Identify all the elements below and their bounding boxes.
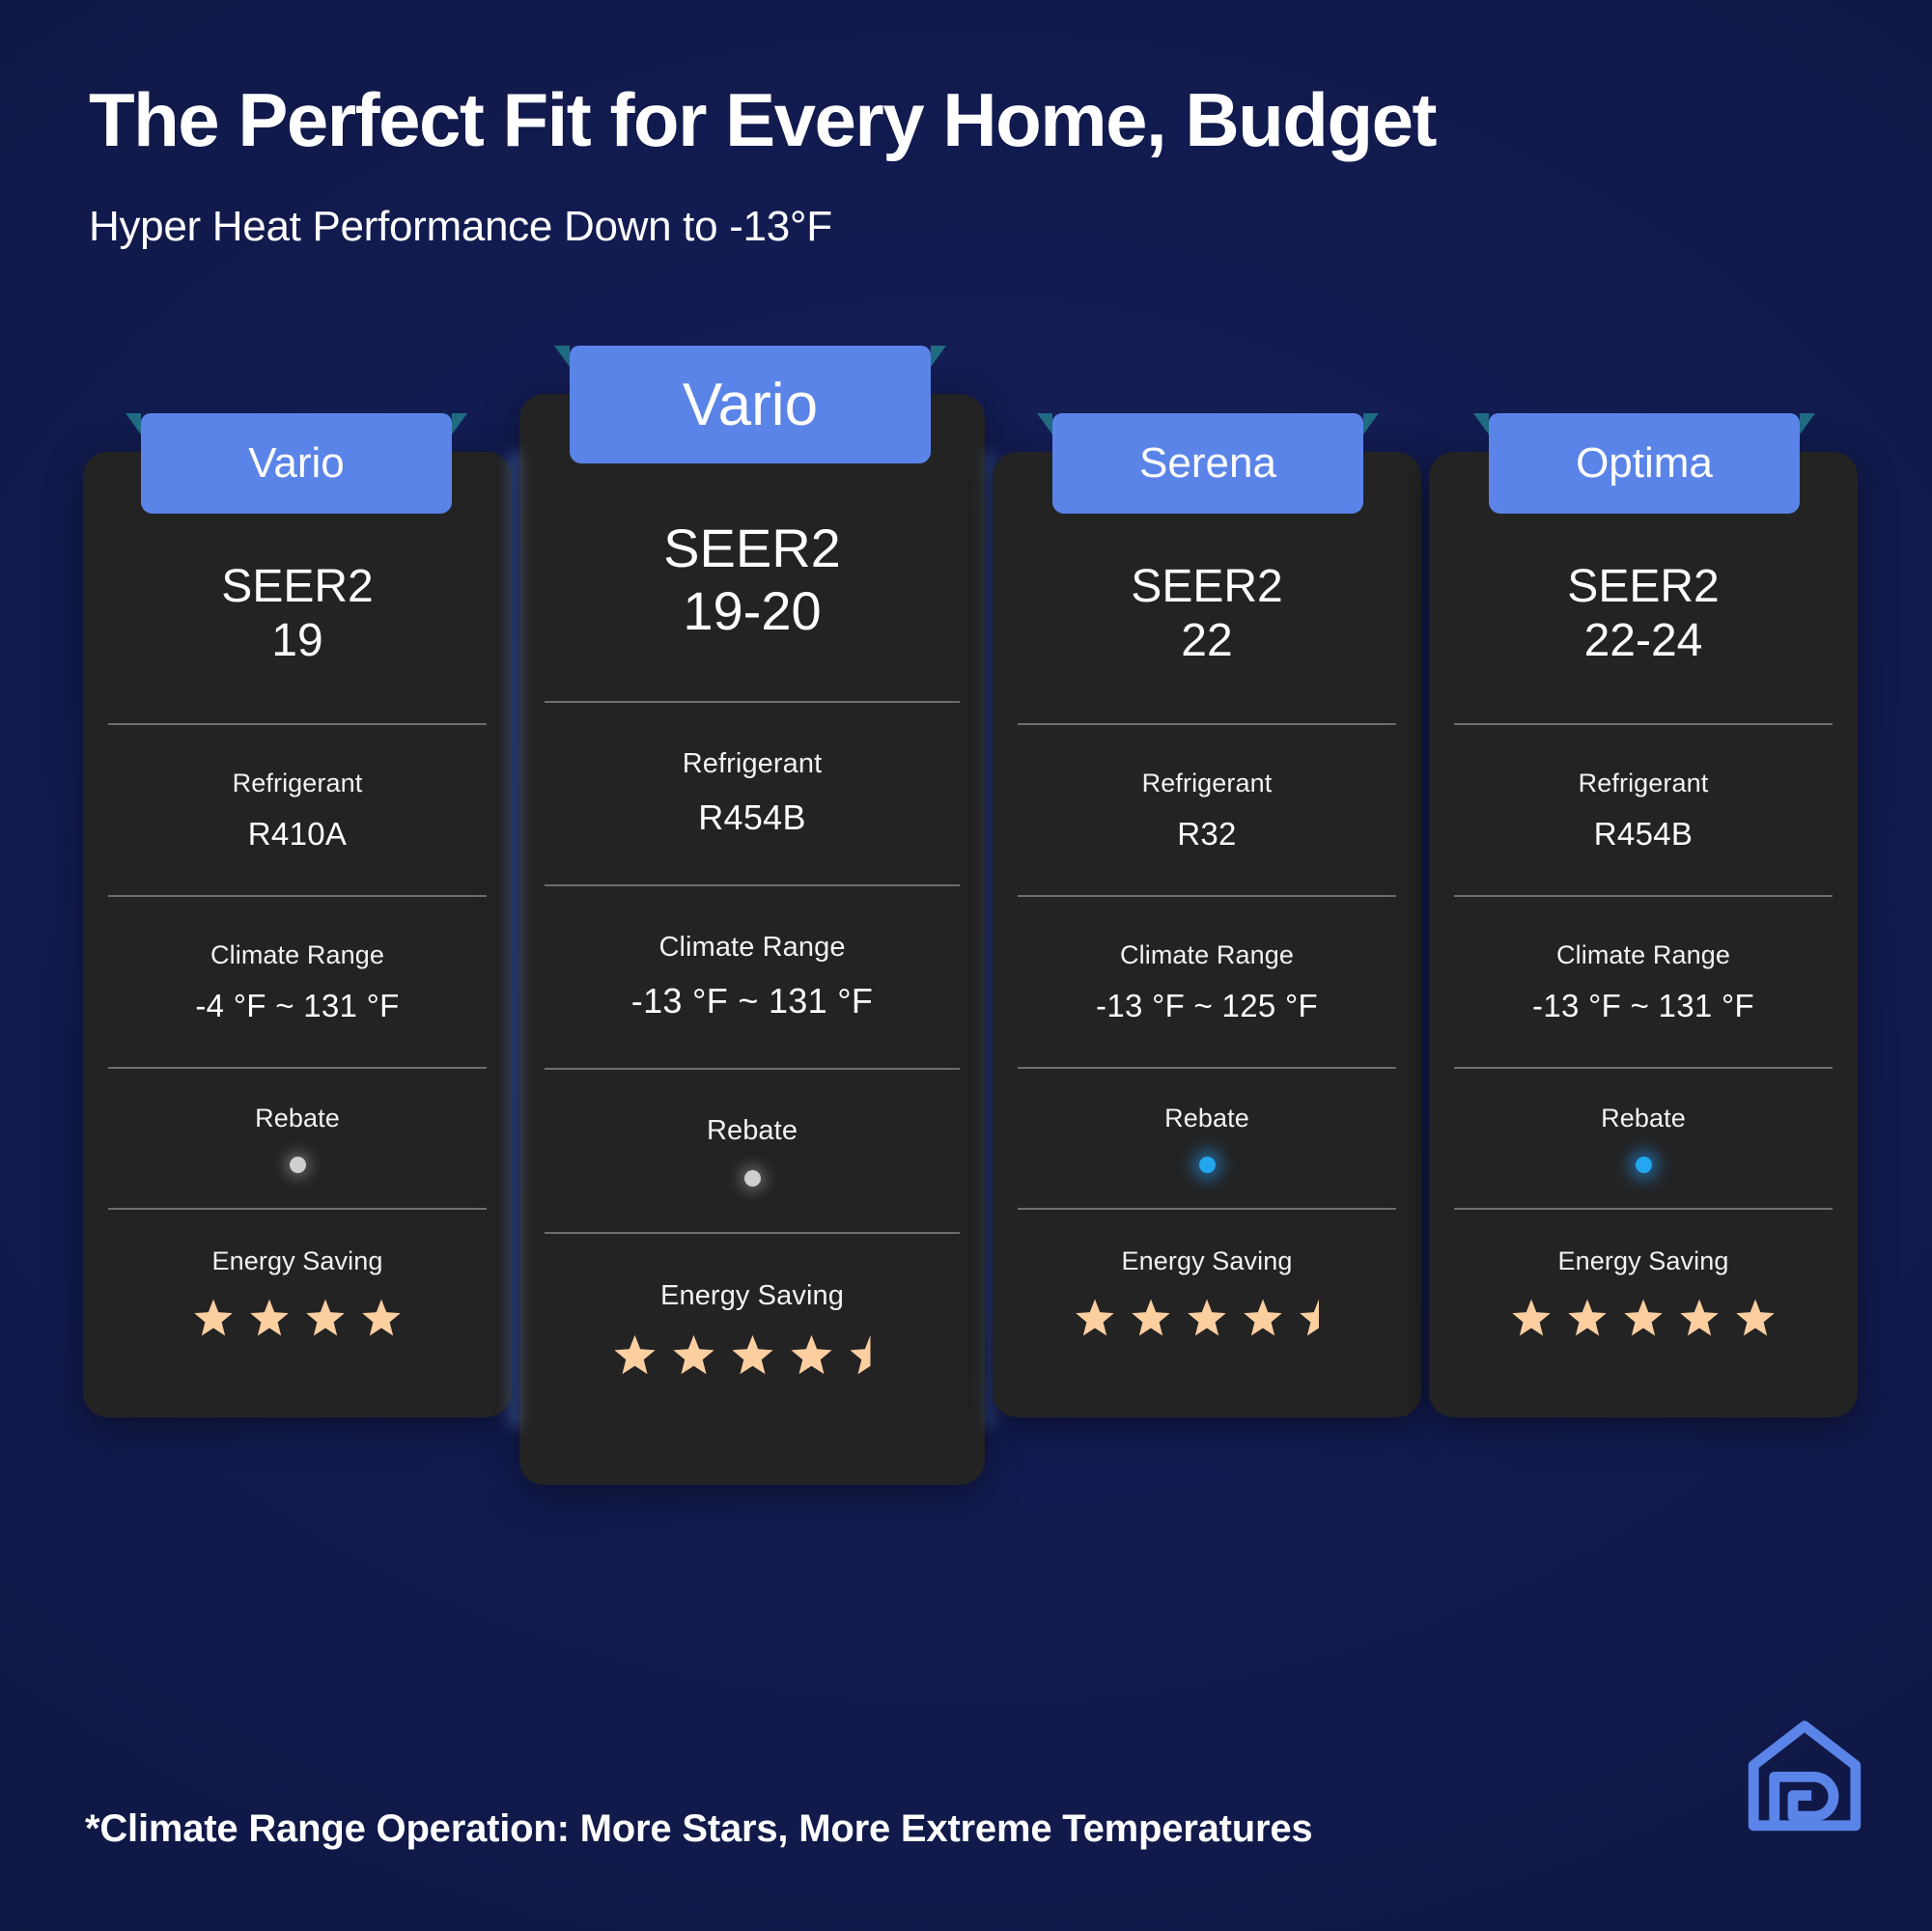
seer-value: 22 bbox=[1018, 614, 1396, 668]
star-icon bbox=[1510, 1298, 1553, 1338]
climate-range-row: Climate Range -13 °F ~ 125 °F bbox=[1018, 897, 1396, 1067]
seer-block: SEER2 19 bbox=[108, 560, 487, 667]
star-icon bbox=[360, 1298, 403, 1338]
climate-range-row: Climate Range -4 °F ~ 131 °F bbox=[108, 897, 487, 1067]
rebate-row: Rebate bbox=[1454, 1069, 1833, 1208]
refrigerant-row: Refrigerant R454B bbox=[1454, 725, 1833, 895]
climate-range-label: Climate Range bbox=[1120, 940, 1294, 970]
refrigerant-row: Refrigerant R454B bbox=[545, 703, 960, 884]
star-icon bbox=[192, 1298, 235, 1338]
seer-label: SEER2 bbox=[1018, 560, 1396, 614]
ribbon-fold-left-icon bbox=[554, 346, 570, 367]
climate-range-label: Climate Range bbox=[1556, 940, 1730, 970]
card-body: SEER2 22 Refrigerant R32 Climate Range -… bbox=[993, 452, 1421, 1417]
card-ribbon-label: Optima bbox=[1489, 413, 1800, 514]
refrigerant-label: Refrigerant bbox=[683, 748, 823, 780]
star-icon bbox=[1566, 1298, 1609, 1338]
rebate-label: Rebate bbox=[255, 1104, 340, 1133]
energy-saving-label: Energy Saving bbox=[660, 1280, 844, 1312]
energy-saving-row: Energy Saving bbox=[1454, 1210, 1833, 1374]
rebate-label: Rebate bbox=[1164, 1104, 1249, 1133]
ribbon-fold-right-icon bbox=[452, 413, 467, 434]
star-icon bbox=[730, 1333, 775, 1377]
seer-block: SEER2 22 bbox=[1018, 560, 1396, 667]
ribbon-fold-right-icon bbox=[1800, 413, 1815, 434]
card-name: Vario bbox=[248, 439, 344, 488]
seer-block: SEER2 19-20 bbox=[545, 518, 960, 643]
card-ribbon-label: Vario bbox=[141, 413, 452, 514]
energy-saving-row: Energy Saving bbox=[108, 1210, 487, 1374]
home-logo-icon bbox=[1747, 1717, 1862, 1833]
seer-value: 19 bbox=[108, 614, 487, 668]
card-body: SEER2 19 Refrigerant R410A Climate Range… bbox=[83, 452, 512, 1417]
star-icon bbox=[248, 1298, 291, 1338]
product-comparison-cards: Vario SEER2 19 Refrigerant R410A Climate… bbox=[83, 375, 1858, 1659]
energy-saving-label: Energy Saving bbox=[1122, 1246, 1293, 1276]
star-icon bbox=[1678, 1298, 1721, 1338]
star-icon bbox=[1130, 1298, 1172, 1338]
star-icon bbox=[1622, 1298, 1665, 1338]
card-body: SEER2 22-24 Refrigerant R454B Climate Ra… bbox=[1429, 452, 1858, 1417]
card-body: SEER2 19-20 Refrigerant R454B Climate Ra… bbox=[519, 394, 985, 1485]
card-ribbon-label: Vario bbox=[570, 346, 931, 463]
refrigerant-row: Refrigerant R32 bbox=[1018, 725, 1396, 895]
refrigerant-value: R410A bbox=[248, 816, 347, 853]
refrigerant-label: Refrigerant bbox=[1142, 769, 1273, 798]
ribbon-fold-left-icon bbox=[1473, 413, 1489, 434]
product-card-vario-featured[interactable]: Vario SEER2 19-20 Refrigerant R454B Clim… bbox=[519, 394, 985, 1485]
ribbon-fold-right-icon bbox=[931, 346, 946, 367]
seer-block: SEER2 22-24 bbox=[1454, 560, 1833, 667]
energy-saving-stars bbox=[1510, 1298, 1777, 1338]
half-star-icon bbox=[848, 1333, 893, 1377]
refrigerant-value: R32 bbox=[1177, 816, 1236, 853]
ribbon-fold-left-icon bbox=[1037, 413, 1052, 434]
rebate-indicator-dot bbox=[1199, 1157, 1216, 1173]
star-icon bbox=[1242, 1298, 1284, 1338]
refrigerant-value: R454B bbox=[1594, 816, 1693, 853]
climate-range-value: -4 °F ~ 131 °F bbox=[195, 988, 399, 1024]
ribbon-fold-left-icon bbox=[126, 413, 141, 434]
rebate-indicator-dot bbox=[1636, 1157, 1652, 1173]
rebate-indicator-dot bbox=[290, 1157, 306, 1173]
card-ribbon-label: Serena bbox=[1052, 413, 1363, 514]
refrigerant-row: Refrigerant R410A bbox=[108, 725, 487, 895]
card-name: Optima bbox=[1576, 439, 1713, 488]
climate-range-value: -13 °F ~ 131 °F bbox=[1532, 988, 1754, 1024]
energy-saving-stars bbox=[1074, 1298, 1340, 1338]
star-icon bbox=[304, 1298, 347, 1338]
climate-range-label: Climate Range bbox=[658, 932, 845, 964]
seer-label: SEER2 bbox=[1454, 560, 1833, 614]
star-icon bbox=[1734, 1298, 1777, 1338]
star-icon bbox=[1074, 1298, 1116, 1338]
product-card-vario-base[interactable]: Vario SEER2 19 Refrigerant R410A Climate… bbox=[83, 452, 512, 1417]
climate-range-value: -13 °F ~ 131 °F bbox=[631, 981, 873, 1021]
product-card-serena[interactable]: Serena SEER2 22 Refrigerant R32 Climate … bbox=[993, 452, 1421, 1417]
rebate-indicator-dot bbox=[744, 1170, 761, 1187]
page-header: The Perfect Fit for Every Home, Budget H… bbox=[89, 81, 1436, 251]
card-name: Serena bbox=[1139, 439, 1276, 488]
rebate-row: Rebate bbox=[545, 1070, 960, 1232]
rebate-label: Rebate bbox=[1601, 1104, 1686, 1133]
energy-saving-label: Energy Saving bbox=[1558, 1246, 1729, 1276]
ribbon-fold-right-icon bbox=[1363, 413, 1379, 434]
seer-label: SEER2 bbox=[108, 560, 487, 614]
climate-range-row: Climate Range -13 °F ~ 131 °F bbox=[545, 886, 960, 1068]
seer-label: SEER2 bbox=[545, 518, 960, 580]
refrigerant-value: R454B bbox=[698, 798, 806, 838]
half-star-icon bbox=[1298, 1298, 1340, 1338]
climate-range-row: Climate Range -13 °F ~ 131 °F bbox=[1454, 897, 1833, 1067]
star-icon bbox=[789, 1333, 834, 1377]
refrigerant-label: Refrigerant bbox=[233, 769, 363, 798]
page-subtitle: Hyper Heat Performance Down to -13°F bbox=[89, 203, 1436, 251]
energy-saving-stars bbox=[612, 1333, 893, 1377]
seer-value: 19-20 bbox=[545, 580, 960, 643]
climate-range-value: -13 °F ~ 125 °F bbox=[1096, 988, 1318, 1024]
product-card-optima[interactable]: Optima SEER2 22-24 Refrigerant R454B Cli… bbox=[1429, 452, 1858, 1417]
card-name: Vario bbox=[683, 371, 818, 439]
energy-saving-label: Energy Saving bbox=[212, 1246, 383, 1276]
star-icon bbox=[1186, 1298, 1228, 1338]
refrigerant-label: Refrigerant bbox=[1579, 769, 1709, 798]
climate-range-label: Climate Range bbox=[210, 940, 384, 970]
star-icon bbox=[612, 1333, 658, 1377]
energy-saving-row: Energy Saving bbox=[545, 1234, 960, 1423]
seer-value: 22-24 bbox=[1454, 614, 1833, 668]
footer-note: *Climate Range Operation: More Stars, Mo… bbox=[85, 1807, 1312, 1851]
rebate-row: Rebate bbox=[108, 1069, 487, 1208]
energy-saving-row: Energy Saving bbox=[1018, 1210, 1396, 1374]
page-title: The Perfect Fit for Every Home, Budget bbox=[89, 81, 1436, 160]
rebate-label: Rebate bbox=[707, 1115, 798, 1147]
energy-saving-stars bbox=[192, 1298, 403, 1338]
rebate-row: Rebate bbox=[1018, 1069, 1396, 1208]
star-icon bbox=[671, 1333, 716, 1377]
